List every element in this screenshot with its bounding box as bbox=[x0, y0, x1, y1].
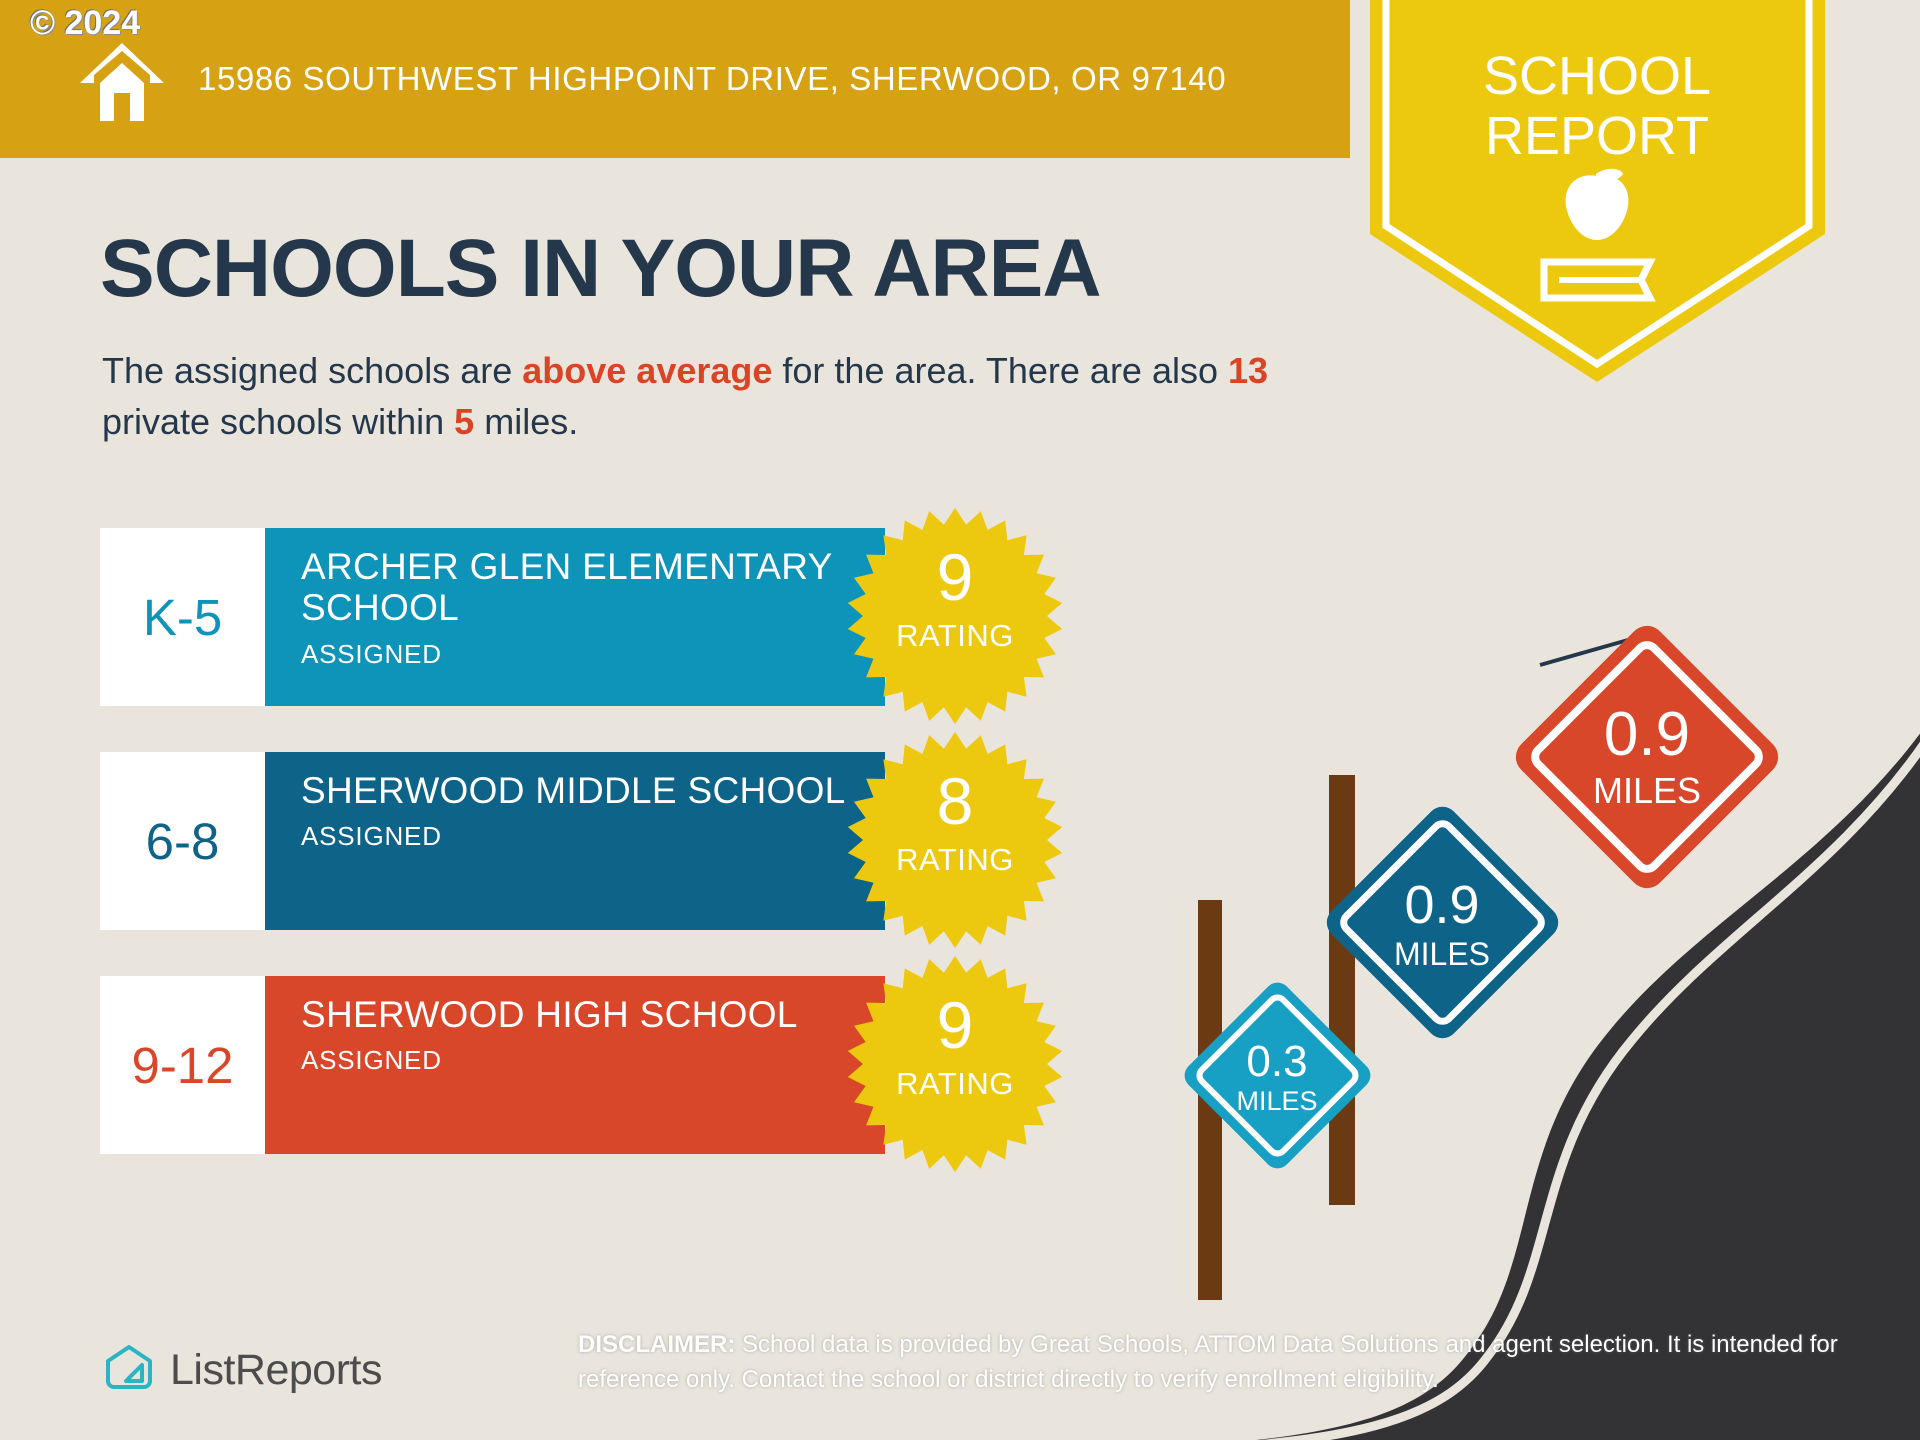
school-bar: ARCHER GLEN ELEMENTARY SCHOOL ASSIGNED bbox=[265, 528, 885, 706]
rating-label: RATING bbox=[845, 842, 1065, 878]
school-report-badge: SCHOOL REPORT bbox=[1370, 0, 1825, 384]
rating-value: 9 bbox=[845, 544, 1065, 610]
rating-label: RATING bbox=[845, 618, 1065, 654]
property-address: 15986 SOUTHWEST HIGHPOINT DRIVE, SHERWOO… bbox=[198, 57, 1226, 102]
school-status: ASSIGNED bbox=[301, 821, 885, 852]
grade-badge: K-5 bbox=[100, 528, 265, 706]
school-report-page: 15986 SOUTHWEST HIGHPOINT DRIVE, SHERWOO… bbox=[0, 0, 1920, 1440]
subtitle-part-4: miles. bbox=[474, 401, 578, 442]
school-row[interactable]: 9-12 SHERWOOD HIGH SCHOOL ASSIGNED 9 RAT… bbox=[100, 976, 980, 1154]
distance-value: 0.9 bbox=[1604, 700, 1690, 769]
grade-badge: 6-8 bbox=[100, 752, 265, 930]
copyright-label: © 2024 bbox=[30, 4, 140, 43]
rating-label: RATING bbox=[845, 1066, 1065, 1102]
school-list: K-5 ARCHER GLEN ELEMENTARY SCHOOL ASSIGN… bbox=[100, 528, 980, 1200]
grade-label: 9-12 bbox=[131, 1036, 233, 1095]
page-subtitle: The assigned schools are above average f… bbox=[102, 345, 1332, 447]
school-name: SHERWOOD MIDDLE SCHOOL bbox=[301, 770, 885, 811]
subtitle-part-1: The assigned schools are bbox=[102, 350, 522, 391]
rating-starburst: 9 RATING bbox=[845, 506, 1065, 726]
disclaimer-label: DISCLAIMER: bbox=[578, 1331, 735, 1358]
school-row[interactable]: 6-8 SHERWOOD MIDDLE SCHOOL ASSIGNED 8 RA… bbox=[100, 752, 980, 930]
listreports-wordmark: ListReports bbox=[170, 1346, 382, 1395]
rating-value: 9 bbox=[845, 992, 1065, 1058]
grade-label: K-5 bbox=[143, 588, 222, 647]
school-bar: SHERWOOD MIDDLE SCHOOL ASSIGNED bbox=[265, 752, 885, 930]
distance-value: 0.3 bbox=[1246, 1037, 1307, 1086]
school-status: ASSIGNED bbox=[301, 639, 885, 670]
distance-unit: MILES bbox=[1236, 1086, 1317, 1116]
distance-sign: 0.3 MILES bbox=[1170, 968, 1385, 1183]
distance-value: 0.9 bbox=[1404, 875, 1479, 935]
grade-badge: 9-12 bbox=[100, 976, 265, 1154]
school-name: SHERWOOD HIGH SCHOOL bbox=[301, 994, 885, 1035]
listreports-logo[interactable]: ListReports bbox=[104, 1343, 382, 1398]
disclaimer: DISCLAIMER: School data is provided by G… bbox=[578, 1328, 1898, 1398]
subtitle-highlight-radius: 5 bbox=[454, 401, 474, 442]
home-icon bbox=[76, 35, 168, 132]
distance-unit: MILES bbox=[1593, 770, 1701, 811]
subtitle-highlight-above-average: above average bbox=[522, 350, 772, 391]
school-name: ARCHER GLEN ELEMENTARY SCHOOL bbox=[301, 546, 885, 629]
rating-starburst: 9 RATING bbox=[845, 954, 1065, 1174]
page-title: SCHOOLS IN YOUR AREA bbox=[100, 222, 1101, 316]
school-row[interactable]: K-5 ARCHER GLEN ELEMENTARY SCHOOL ASSIGN… bbox=[100, 528, 980, 706]
rating-value: 8 bbox=[845, 768, 1065, 834]
rating-starburst: 8 RATING bbox=[845, 730, 1065, 950]
address-header: 15986 SOUTHWEST HIGHPOINT DRIVE, SHERWOO… bbox=[0, 0, 1350, 158]
subtitle-highlight-private-count: 13 bbox=[1228, 350, 1268, 391]
subtitle-part-3: private schools within bbox=[102, 401, 454, 442]
badge-line-2: REPORT bbox=[1485, 106, 1709, 166]
listreports-house-icon bbox=[104, 1343, 154, 1398]
school-status: ASSIGNED bbox=[301, 1045, 885, 1076]
grade-label: 6-8 bbox=[146, 812, 220, 871]
school-bar: SHERWOOD HIGH SCHOOL ASSIGNED bbox=[265, 976, 885, 1154]
subtitle-part-2: for the area. There are also bbox=[772, 350, 1228, 391]
badge-line-1: SCHOOL bbox=[1483, 46, 1711, 106]
distance-unit: MILES bbox=[1394, 936, 1490, 972]
disclaimer-text: School data is provided by Great Schools… bbox=[578, 1331, 1838, 1393]
